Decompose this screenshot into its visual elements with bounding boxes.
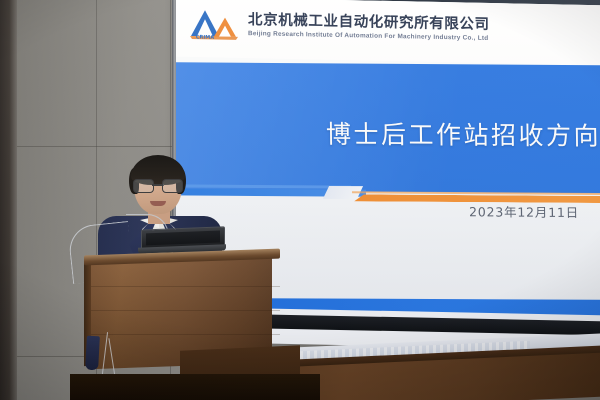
- slide-date: 2023年12月11日: [414, 201, 600, 222]
- presenter-mouth: [150, 201, 166, 206]
- svg-text:CRIMA: CRIMA: [196, 34, 214, 40]
- lens-left: [133, 179, 154, 193]
- photo-scene: CRIMA 北京机械工业自动化研究所有限公司 Beijing Research …: [0, 0, 600, 400]
- table-underside-shadow: [70, 374, 320, 400]
- podium-grain-line: [84, 310, 280, 311]
- podium-grain-line: [84, 286, 280, 287]
- laptop-screen: [146, 231, 220, 246]
- slide-title: 博士后工作站招收方向: [326, 115, 600, 154]
- slide-header: CRIMA 北京机械工业自动化研究所有限公司 Beijing Research …: [176, 0, 600, 65]
- lens-right: [162, 179, 183, 193]
- company-logo-lockup: CRIMA 北京机械工业自动化研究所有限公司 Beijing Research …: [188, 6, 490, 46]
- company-name-block: 北京机械工业自动化研究所有限公司 Beijing Research Instit…: [248, 7, 490, 42]
- eyeglasses-icon: [133, 179, 183, 191]
- crima-mountain-logo-icon: CRIMA: [188, 6, 240, 41]
- foreground-conference-table: [0, 330, 600, 400]
